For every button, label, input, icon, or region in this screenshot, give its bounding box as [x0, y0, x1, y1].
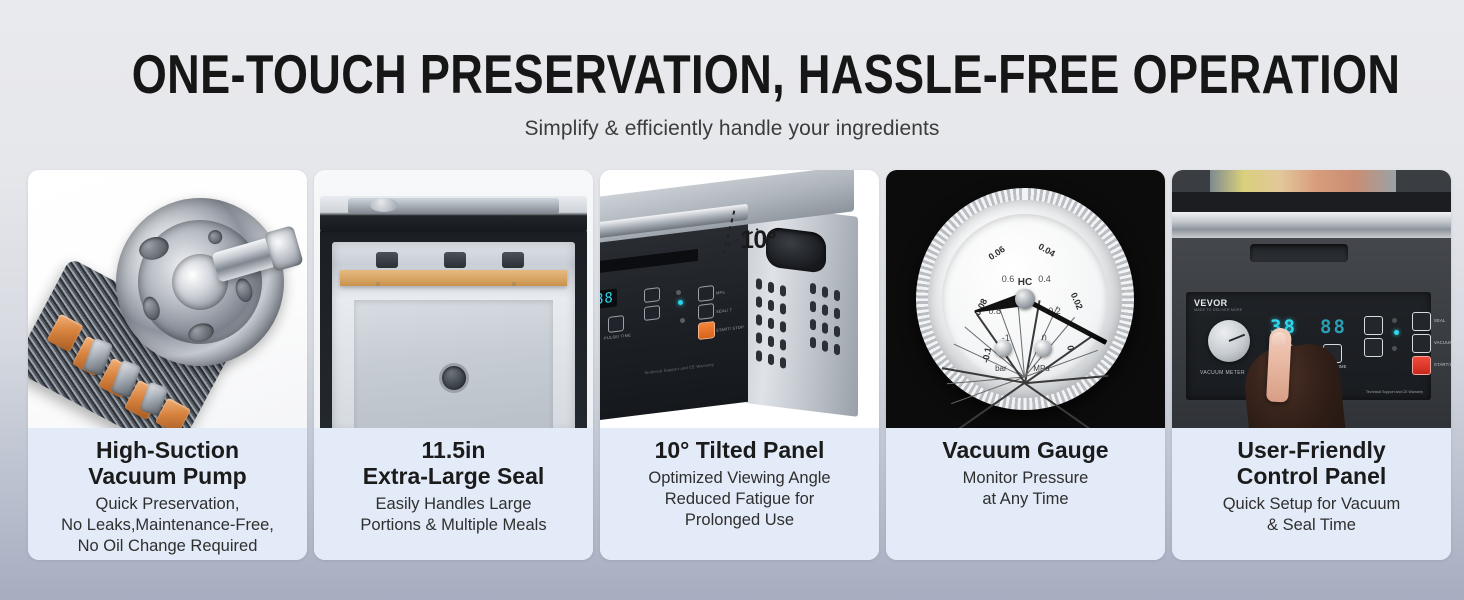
page-title: ONE-TOUCH PRESERVATION, HASSLE-FREE OPER… [132, 47, 1332, 101]
feature-card-extra-large-seal[interactable]: 11.5in Extra-Large Seal Easily Handles L… [314, 170, 593, 560]
vacuum-label: VACUUM [1434, 340, 1451, 345]
page-subtitle: Simplify & efficiently handle your ingre… [0, 117, 1464, 141]
card-desc-line: Easily Handles Large [360, 494, 546, 515]
feature-card-vacuum-pump[interactable]: High-Suction Vacuum Pump Quick Preservat… [28, 170, 307, 560]
status-led-off [676, 290, 681, 295]
gauge-label-outer: 0.06 [987, 244, 1007, 262]
feature-card-tilted-panel[interactable]: 88 PULSE/ TIME MPa SEAL/ T START/ STOP T… [600, 170, 879, 560]
fingernail [1272, 332, 1286, 348]
card-desc-line: Monitor Pressure [963, 468, 1089, 489]
heat-sealing-bar [340, 270, 567, 286]
card-caption: High-Suction Vacuum Pump Quick Preservat… [28, 428, 307, 560]
gauge-label-outer: 0 [1065, 345, 1076, 351]
status-led-off [1392, 346, 1397, 351]
gauge-hub [1015, 289, 1035, 309]
card-description: Easily Handles Large Portions & Multiple… [360, 494, 546, 536]
card-desc-line: Quick Setup for Vacuum [1223, 494, 1401, 515]
seal-label: SEAL [1434, 318, 1446, 323]
panel-display-group: 88 [600, 288, 617, 309]
seal-button[interactable] [1412, 312, 1431, 331]
card-title-line: High-Suction [88, 437, 246, 463]
vacuum-button[interactable] [698, 303, 714, 320]
food-in-lid [1210, 170, 1396, 194]
vacuum-chamber-seal-bar-photo [314, 170, 593, 428]
card-description: Optimized Viewing Angle Reduced Fatigue … [648, 468, 830, 531]
gauge-illustration: 0.08 0.06 0.04 0.02 0 -0.1 0.8 0.6 0.4 0… [916, 188, 1134, 410]
lid-grip [1250, 244, 1348, 262]
rotor-illustration [64, 190, 292, 428]
vacuum-pressure-gauge-photo: 0.08 0.06 0.04 0.02 0 -0.1 0.8 0.6 0.4 0… [886, 170, 1165, 428]
vevor-logo: VEVOR [1194, 298, 1228, 308]
vacuum-pump-rotor-photo [28, 170, 307, 428]
lid-metal-bar [1172, 212, 1451, 240]
vevor-tagline: MADE TO DELIVER MORE [1194, 308, 1242, 312]
minus-button[interactable] [644, 305, 660, 321]
card-caption: Vacuum Gauge Monitor Pressure at Any Tim… [886, 428, 1165, 560]
card-title: High-Suction Vacuum Pump [88, 437, 246, 489]
card-description: Quick Preservation, No Leaks,Maintenance… [61, 494, 274, 557]
card-description: Quick Setup for Vacuum & Seal Time [1223, 494, 1401, 536]
lid-knob [370, 198, 398, 212]
chamber-base-plate [354, 300, 553, 428]
card-desc-line: Optimized Viewing Angle [648, 468, 830, 489]
card-caption: 10° Tilted Panel Optimized Viewing Angle… [600, 428, 879, 560]
gauge-screw [995, 340, 1012, 357]
card-title: Vacuum Gauge [942, 437, 1108, 463]
sealing-time-display: 88 [1320, 316, 1347, 338]
feature-card-list: High-Suction Vacuum Pump Quick Preservat… [28, 170, 1436, 560]
card-desc-line: No Leaks,Maintenance-Free, [61, 515, 274, 536]
status-led-off [680, 318, 685, 323]
pulse-time-button[interactable] [608, 315, 624, 333]
card-title-line: 11.5in [363, 437, 545, 463]
panel-fine-print: Technical Support and CE Warranty [1366, 390, 1423, 395]
card-title-line: Vacuum Pump [88, 463, 246, 489]
card-desc-line: & Seal Time [1223, 515, 1401, 536]
card-desc-line: Prolonged Use [648, 510, 830, 531]
gauge-label-inner: 0.6 [1002, 274, 1015, 284]
card-desc-line: at Any Time [963, 489, 1089, 510]
card-title-line: User-Friendly [1237, 437, 1387, 463]
gauge-brand: HC [1018, 277, 1032, 288]
start-stop-button[interactable] [698, 321, 715, 340]
decrease-button[interactable] [1364, 338, 1383, 357]
vacuum-port [442, 366, 466, 390]
gauge-label-inner: 0.4 [1038, 274, 1051, 284]
card-title-line: Vacuum Gauge [942, 437, 1108, 463]
tilt-angle-label: 10° [740, 226, 776, 255]
start-stop-button[interactable] [1412, 356, 1431, 375]
seal-button[interactable] [698, 285, 714, 302]
panel-vacuum-meter [1208, 320, 1250, 362]
plus-button[interactable] [644, 287, 660, 303]
gauge-screw [1035, 340, 1052, 357]
card-title: User-Friendly Control Panel [1237, 437, 1387, 489]
gauge-face: 0.08 0.06 0.04 0.02 0 -0.1 0.8 0.6 0.4 0… [942, 214, 1108, 384]
status-led-off [1392, 318, 1397, 323]
vacuum-button[interactable] [1412, 334, 1431, 353]
card-desc-line: Quick Preservation, [61, 494, 274, 515]
promo-banner: ONE-TOUCH PRESERVATION, HASSLE-FREE OPER… [0, 0, 1464, 600]
gauge-unit-mpa: MPa [1033, 364, 1049, 373]
card-title: 11.5in Extra-Large Seal [363, 437, 545, 489]
card-title: 10° Tilted Panel [655, 437, 825, 463]
card-description: Monitor Pressure at Any Time [963, 468, 1089, 510]
card-desc-line: Portions & Multiple Meals [360, 515, 546, 536]
card-caption: User-Friendly Control Panel Quick Setup … [1172, 428, 1451, 560]
banner-header: ONE-TOUCH PRESERVATION, HASSLE-FREE OPER… [0, 0, 1464, 141]
gauge-label-outer-min: -0.1 [980, 346, 993, 363]
lid-top-edge [1172, 192, 1451, 214]
feature-card-vacuum-gauge[interactable]: 0.08 0.06 0.04 0.02 0 -0.1 0.8 0.6 0.4 0… [886, 170, 1165, 560]
gauge-unit-bar: bar [995, 364, 1007, 373]
card-caption: 11.5in Extra-Large Seal Easily Handles L… [314, 428, 593, 560]
seven-segment-display: 88 [600, 288, 617, 309]
status-led-on [1394, 330, 1399, 335]
ventilation-holes [752, 274, 856, 387]
card-title-line: Control Panel [1237, 463, 1387, 489]
card-title-line: 10° Tilted Panel [655, 437, 825, 463]
status-led-on [678, 300, 683, 305]
control-panel-finger-press-photo: VEVOR MADE TO DELIVER MORE VACUUM METER … [1172, 170, 1451, 428]
tilted-control-panel-photo: 88 PULSE/ TIME MPa SEAL/ T START/ STOP T… [600, 170, 879, 428]
start-stop-label: START/STOP [1434, 362, 1451, 367]
increase-button[interactable] [1364, 316, 1383, 335]
card-desc-line: Reduced Fatigue for [648, 489, 830, 510]
gauge-label-outer: 0.04 [1037, 241, 1057, 258]
feature-card-control-panel[interactable]: VEVOR MADE TO DELIVER MORE VACUUM METER … [1172, 170, 1451, 560]
card-desc-line: No Oil Change Required [61, 536, 274, 557]
card-title-line: Extra-Large Seal [363, 463, 545, 489]
gauge-label-outer: 0.02 [1069, 291, 1085, 311]
vacuum-meter-label: VACUUM METER [1200, 370, 1245, 376]
